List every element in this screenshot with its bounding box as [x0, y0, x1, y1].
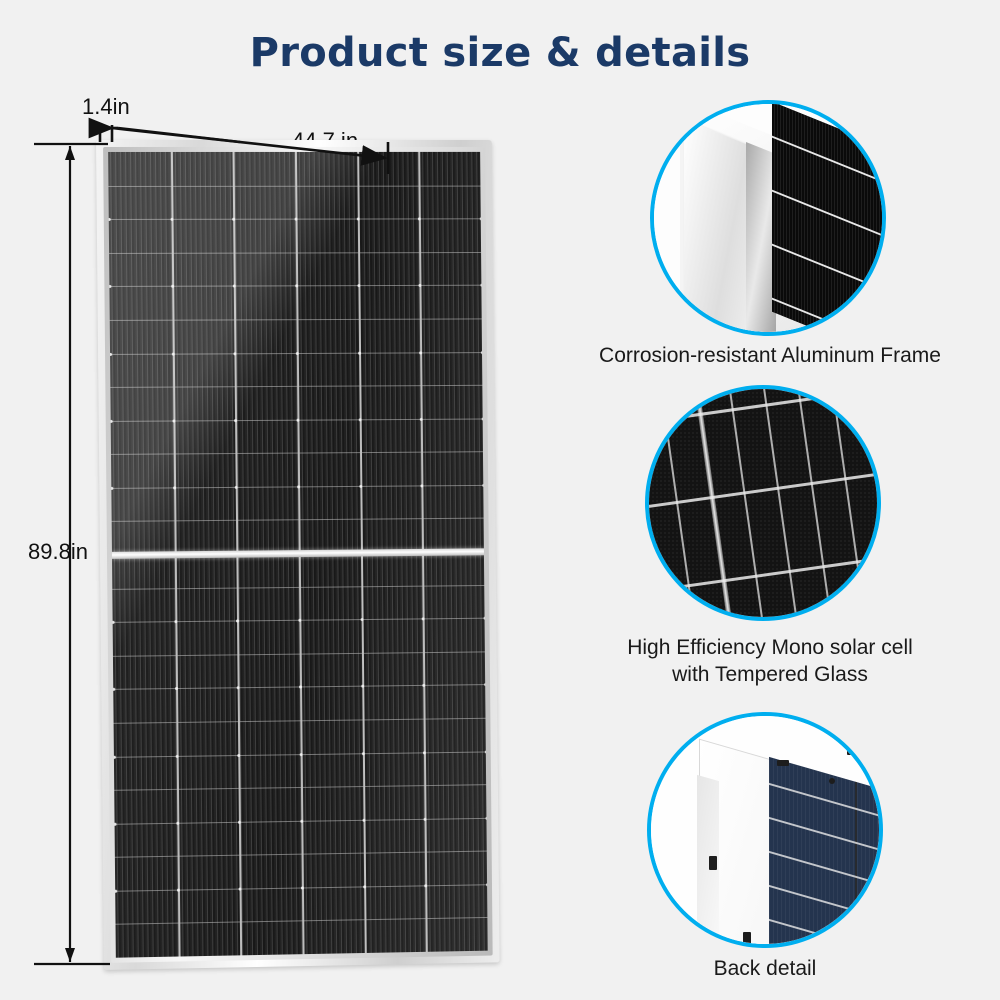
back-dot [829, 778, 835, 784]
caption-mono-cell: High Efficiency Mono solar cell with Tem… [560, 634, 980, 688]
detail-back [647, 712, 887, 952]
back-clip-left [709, 856, 717, 870]
frame-cell-fingers [772, 102, 886, 336]
detail-circle-aluminum-frame [650, 100, 886, 336]
page-title: Product size & details [0, 30, 1000, 76]
mono-cell-texture [645, 385, 881, 621]
caption-mono-cell-line-1: High Efficiency Mono solar cell [560, 634, 980, 661]
aluminum-frame-photo [654, 104, 882, 332]
back-detail-photo [651, 716, 879, 944]
caption-aluminum-frame: Corrosion-resistant Aluminum Frame [545, 342, 995, 369]
panel-dimension-figure: 1.4in 44.7 in 89.8in [0, 80, 560, 1000]
dimension-arrows [0, 80, 560, 1000]
frame-adjacent-cells [772, 102, 886, 336]
back-cells [769, 757, 883, 948]
back-cell-texture [769, 757, 883, 948]
back-clip-top-right [847, 749, 856, 755]
detail-circle-mono-cell [645, 385, 881, 621]
mono-cell-photo [645, 385, 881, 621]
detail-circle-back [647, 712, 883, 948]
back-clip-bottom [743, 932, 751, 946]
caption-mono-cell-line-2: with Tempered Glass [560, 661, 980, 688]
back-cell-midline [855, 782, 857, 948]
caption-back-detail: Back detail [645, 955, 885, 982]
product-detail-page: Product size & details 1.4in 44.7 in 89.… [0, 0, 1000, 1000]
detail-mono-cell [645, 385, 885, 625]
detail-aluminum-frame [650, 100, 890, 340]
back-clip-top [777, 760, 789, 766]
